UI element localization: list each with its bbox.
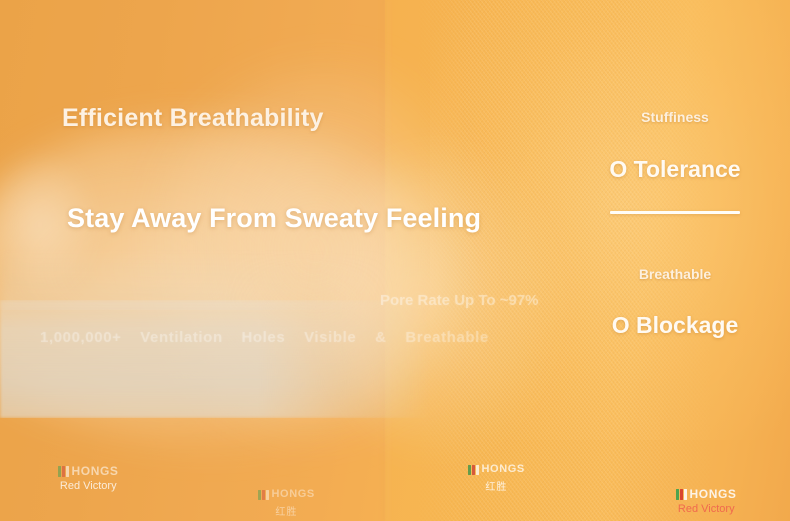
brand-tagline-cn: 红胜 bbox=[468, 478, 525, 493]
brand-logo-row: HONGS bbox=[676, 488, 737, 500]
brand-logo-bottom-right: HONGS Red Victory bbox=[676, 488, 737, 515]
brand-tagline: Red Victory bbox=[58, 480, 119, 492]
stat-label-breathable: Breathable bbox=[560, 267, 790, 281]
product-banner: Pore Rate Up To ~97% 1,000,000+ Ventilat… bbox=[0, 0, 790, 521]
spacer-3 bbox=[560, 214, 790, 267]
brand-logo-row: HONGS bbox=[58, 465, 119, 477]
watermark-ventilation-holes: 1,000,000+ Ventilation Holes Visible & B… bbox=[40, 329, 489, 346]
brand-logo-bottom-left: HONGS Red Victory bbox=[58, 465, 119, 492]
spacer-4 bbox=[560, 281, 790, 314]
brand-logo-bottom-center: HONGS 红胜 bbox=[468, 464, 525, 493]
stat-column: Stuffiness O Tolerance Breathable O Bloc… bbox=[560, 110, 790, 337]
hongs-flag-bars-icon bbox=[468, 465, 479, 475]
brand-wordmark: HONGS bbox=[482, 464, 525, 475]
brand-logo-row: HONGS bbox=[468, 464, 525, 475]
haze-panel bbox=[0, 300, 430, 418]
stat-label-stuffiness: Stuffiness bbox=[560, 110, 790, 124]
stat-value-tolerance: O Tolerance bbox=[560, 158, 790, 181]
brand-wordmark: HONGS bbox=[272, 489, 315, 500]
brand-wordmark: HONGS bbox=[690, 488, 737, 500]
spacer-1 bbox=[560, 124, 790, 158]
watermark-pore-rate: Pore Rate Up To ~97% bbox=[380, 292, 539, 309]
brand-wordmark: HONGS bbox=[72, 465, 119, 477]
hongs-flag-bars-icon bbox=[58, 466, 69, 477]
spacer-2 bbox=[560, 181, 790, 211]
hongs-flag-bars-icon bbox=[258, 490, 269, 500]
brand-logo-row: HONGS bbox=[258, 489, 315, 500]
hongs-flag-bars-icon bbox=[676, 489, 687, 500]
headline-title: Stay Away From Sweaty Feeling bbox=[67, 203, 481, 234]
brand-logo-bottom-mid: HONGS 红胜 bbox=[258, 489, 315, 518]
brand-tagline-cn: 红胜 bbox=[258, 503, 315, 518]
headline-subtitle: Efficient Breathability bbox=[62, 104, 324, 133]
stat-value-blockage: O Blockage bbox=[560, 314, 790, 337]
brand-tagline: Red Victory bbox=[676, 503, 737, 515]
